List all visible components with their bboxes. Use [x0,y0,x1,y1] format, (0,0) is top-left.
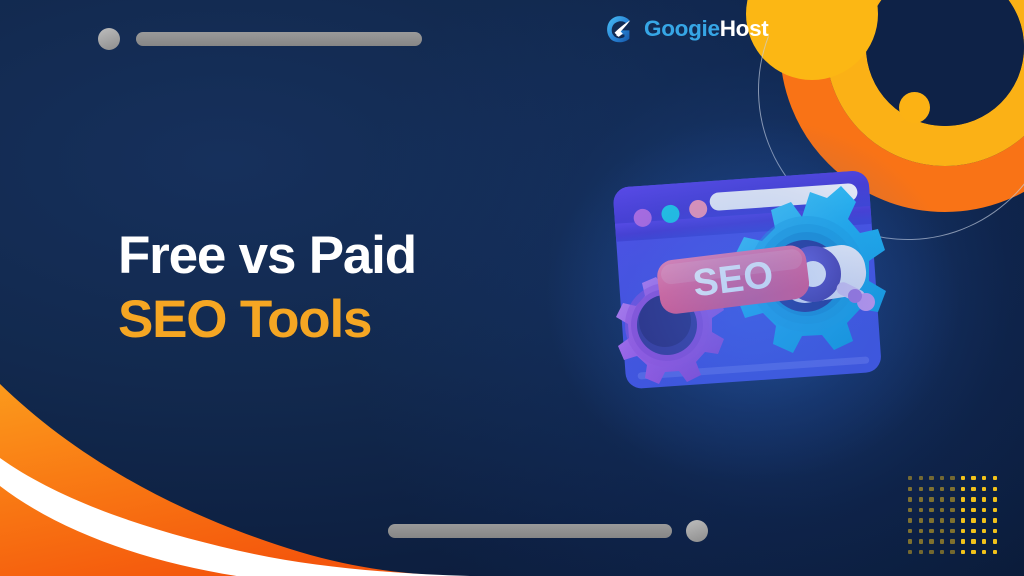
slider-knob-icon[interactable] [686,520,708,542]
logo-wordmark: GoogieHost [644,18,769,41]
slider-track[interactable] [388,524,672,538]
orbit-dot [899,92,930,123]
thumbnail-canvas: GoogieHost Free vs Paid SEO Tools [0,0,1024,576]
headline-line-1: Free vs Paid [118,228,416,284]
dot-grid-decoration [908,476,997,554]
decorative-slider-top[interactable] [98,28,422,50]
headline-line-2: SEO Tools [118,292,416,348]
decorative-slider-bottom[interactable] [388,520,708,542]
slider-knob-icon[interactable] [98,28,120,50]
seo-tools-3d-illustration: SEO [598,160,918,420]
logo-text-secondary: Host [720,16,769,41]
brand-logo[interactable]: GoogieHost [603,13,769,46]
page-title: Free vs Paid SEO Tools [118,228,416,348]
googiehost-swoosh-logo-icon [603,13,636,46]
illustration-svg: SEO [598,160,918,420]
swoosh-body [0,384,470,576]
logo-text-primary: Googie [644,16,720,41]
slider-track[interactable] [136,32,422,46]
